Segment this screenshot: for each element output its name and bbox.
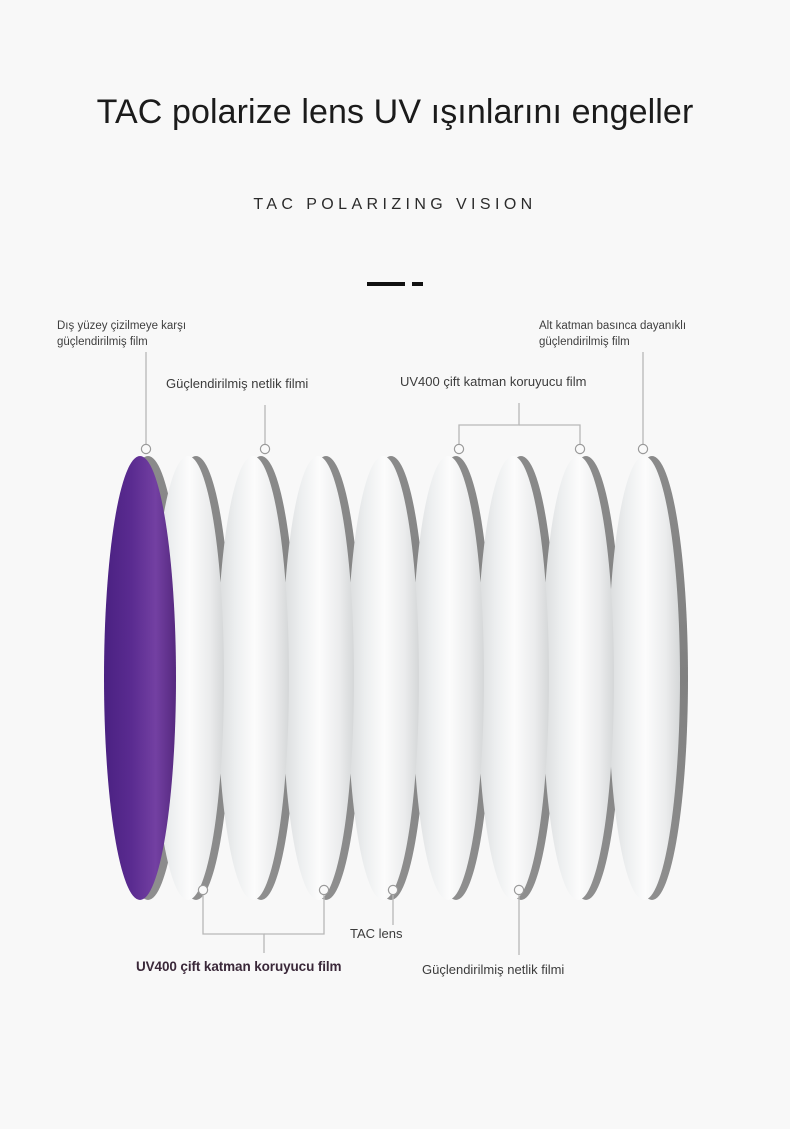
label-outer-scratch-film: Dış yüzey çizilmeye karşı güçlendirilmiş… — [57, 319, 186, 350]
leader-node — [319, 885, 328, 894]
label-tac-lens: TAC lens — [350, 925, 403, 943]
leader-node — [260, 444, 269, 453]
lens-layer — [477, 456, 549, 900]
leader-node — [388, 885, 397, 894]
label-uv400-top: UV400 çift katman koruyucu film — [400, 373, 586, 391]
leader-uv400-bracket-bottom-right — [264, 895, 324, 934]
leader-node — [514, 885, 523, 894]
leader-node — [198, 885, 207, 894]
label-uv400-bottom-highlighted: UV400 çift katman koruyucu film — [136, 958, 341, 976]
lens-layer — [217, 456, 289, 900]
leader-uv400-bracket-top — [459, 403, 519, 444]
lens-layer-highlighted — [104, 456, 176, 900]
lens-group — [104, 456, 680, 900]
leader-node — [638, 444, 647, 453]
leader-lines-top — [141, 352, 647, 454]
lens-layer — [608, 456, 680, 900]
leader-node — [575, 444, 584, 453]
label-clarity-film-top: Güçlendirilmiş netlik filmi — [166, 375, 308, 393]
label-clarity-film-bottom: Güçlendirilmiş netlik filmi — [422, 961, 564, 979]
leader-node — [141, 444, 150, 453]
lens-layer — [412, 456, 484, 900]
leader-node — [454, 444, 463, 453]
lens-layer — [282, 456, 354, 900]
leader-uv400-bracket-bottom — [203, 895, 264, 953]
lens-layer — [542, 456, 614, 900]
lens-stack-diagram — [0, 0, 790, 1129]
label-bottom-pressure-film: Alt katman basınca dayanıklı güçlendiril… — [539, 319, 686, 350]
leader-uv400-bracket-top-right — [519, 425, 580, 444]
lens-layer — [347, 456, 419, 900]
